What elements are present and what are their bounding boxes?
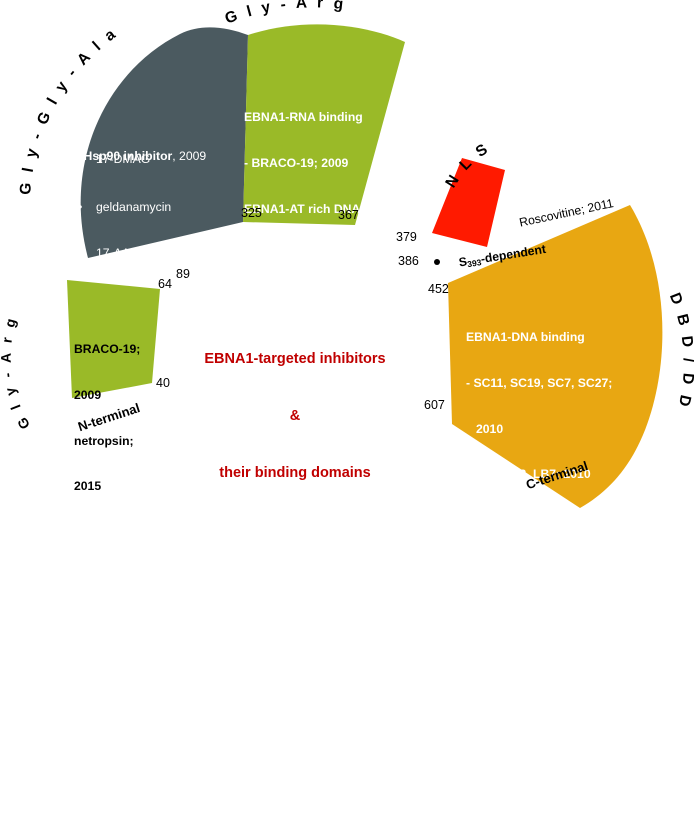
- residue-number-325: 325: [241, 206, 262, 220]
- green-rna-line-4: - netropsin; 2015: [244, 293, 363, 308]
- orange-line-4: - DSE3; 2011: [466, 513, 612, 528]
- orange-line-8: 2012: [466, 695, 612, 710]
- nterminal-line-3: 2015: [74, 479, 140, 494]
- hsp90-sub: 17-DMAG: [96, 152, 150, 167]
- hsp90-bullet-1: •17-AAG: [78, 246, 171, 261]
- orange-line-9: - JLP2; 2014: [466, 741, 612, 759]
- arc-label-gly-arg-left: G l y - A r g: [0, 314, 33, 432]
- diagram-canvas: G l y - G l y - A l a G l y - A r g N L …: [0, 0, 694, 524]
- orange-line-7: - EiK1, a small peptide;: [466, 650, 612, 665]
- green-rna-line-0: EBNA1-RNA binding: [244, 110, 363, 125]
- residue-number-89: 89: [176, 267, 190, 281]
- nterminal-line-2: netropsin;: [74, 434, 140, 449]
- hsp90-bullet-list: •geldanamycin •17-AAG: [78, 170, 171, 292]
- page-title-line3: their binding domains: [185, 464, 405, 483]
- nterminal-line-0: BRACO-19;: [74, 342, 140, 357]
- residue-number-607: 607: [424, 398, 445, 412]
- orange-line-2: 2010: [466, 422, 612, 437]
- residue-number-386: 386: [398, 254, 419, 268]
- orange-line-6: EBNA1 dimerization: [466, 604, 612, 619]
- orange-line-10: - L2P4; 2017: [466, 790, 612, 808]
- arc-label-gly-arg-top: G l y - A r g: [223, 0, 347, 28]
- orange-line-5: - H31; 2014: [466, 558, 612, 573]
- orange-dbd-text: EBNA1-DNA binding - SC11, SC19, SC7, SC2…: [466, 300, 612, 838]
- page-title-line2: &: [185, 407, 405, 426]
- residue-number-379: 379: [396, 230, 417, 244]
- residue-number-367: 367: [338, 208, 359, 222]
- orange-line-1: - SC11, SC19, SC7, SC27;: [466, 376, 612, 391]
- nterminal-line-1: 2009: [74, 388, 140, 403]
- residue-number-40: 40: [156, 376, 170, 390]
- marker-dot-386: [434, 259, 440, 265]
- arc-label-dbd-dd: D B D / D D: [666, 291, 694, 411]
- hsp90-heading-year: , 2009: [172, 149, 206, 163]
- residue-number-452: 452: [428, 282, 449, 296]
- residue-number-64: 64: [158, 277, 172, 291]
- page-title: EBNA1-targeted inhibitors & their bindin…: [185, 312, 405, 521]
- hsp90-bullet-0: •geldanamycin: [78, 200, 171, 215]
- orange-line-0: EBNA1-DNA binding: [466, 330, 612, 345]
- green-rna-line-1: - BRACO-19; 2009: [244, 156, 363, 171]
- green-rna-line-3: binding: [244, 247, 363, 262]
- page-title-line1: EBNA1-targeted inhibitors: [185, 350, 405, 369]
